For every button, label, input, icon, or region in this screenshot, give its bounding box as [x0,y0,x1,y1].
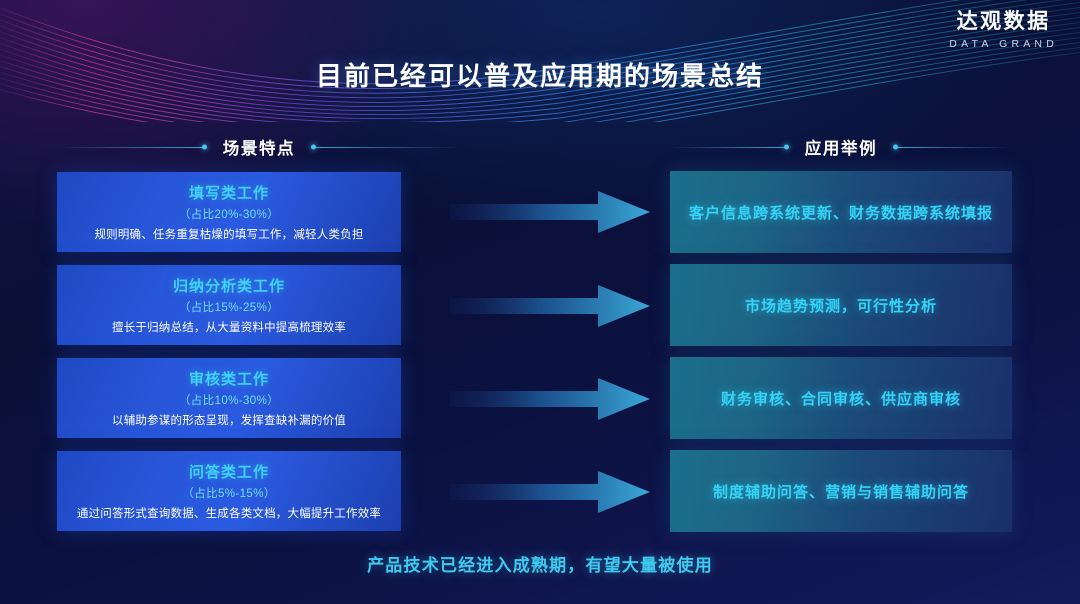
scenario-card-percent: （占比20%-30%） [179,206,279,222]
scenario-card[interactable]: 归纳分析类工作 （占比15%-25%） 擅长于归纳总结，从大量资料中提高梳理效率 [57,265,401,345]
column-header-right-label: 应用举例 [789,135,893,159]
header-line-left [670,147,789,148]
scenario-card-title: 问答类工作 [189,461,269,482]
arrow-row-4 [450,469,650,515]
header-dot-icon [202,145,207,150]
scenario-card-title: 归纳分析类工作 [173,275,285,296]
example-card-text: 财务审核、合同审核、供应商审核 [721,388,961,409]
example-card[interactable]: 市场趋势预测，可行性分析 [670,264,1012,346]
page-title: 目前已经可以普及应用期的场景总结 [0,56,1080,93]
scenario-card-description: 通过问答形式查询数据、生成各类文档，大幅提升工作效率 [77,505,381,521]
scenario-card[interactable]: 审核类工作 （占比10%-30%） 以辅助参谋的形态呈现，发挥查缺补漏的价值 [57,358,401,438]
column-header-left-label: 场景特点 [207,135,311,159]
scenario-card-percent: （占比10%-30%） [179,392,279,408]
scenario-card-title: 审核类工作 [189,368,269,389]
column-header-right: 应用举例 [670,135,1012,159]
logo-chinese-name: 达观数据 [949,10,1058,34]
scenario-card-description: 擅长于归纳总结，从大量资料中提高梳理效率 [112,319,346,335]
scenario-card-percent: （占比5%-15%） [182,485,275,501]
footer-caption: 产品技术已经进入成熟期，有望大量被使用 [0,551,1080,576]
arrow-row-3 [450,376,650,422]
arrow-row-1 [450,189,650,235]
brand-logo: 达观数据 DATA GRAND [949,10,1058,50]
header-dot-icon [784,145,789,150]
example-card[interactable]: 财务审核、合同审核、供应商审核 [670,357,1012,439]
header-line-right [893,147,1012,148]
header-dot-icon [311,145,316,150]
example-card[interactable]: 制度辅助问答、营销与销售辅助问答 [670,450,1012,532]
logo-english-name: DATA GRAND [949,38,1058,50]
scenario-card-description: 以辅助参谋的形态呈现，发挥查缺补漏的价值 [112,412,346,428]
arrow-row-2 [450,283,650,329]
column-header-left: 场景特点 [57,135,461,159]
scenario-card-percent: （占比15%-25%） [179,299,279,315]
header-dot-icon [893,145,898,150]
slide-root: 达观数据 DATA GRAND 目前已经可以普及应用期的场景总结 场景特点 应用… [0,0,1080,604]
scenario-card[interactable]: 填写类工作 （占比20%-30%） 规则明确、任务重复枯燥的填写工作，减轻人类负… [57,172,401,252]
example-card[interactable]: 客户信息跨系统更新、财务数据跨系统填报 [670,171,1012,253]
header-line-left [57,147,207,148]
example-card-text: 客户信息跨系统更新、财务数据跨系统填报 [689,202,993,223]
scenario-card-title: 填写类工作 [189,182,269,203]
example-card-text: 市场趋势预测，可行性分析 [745,295,937,316]
example-card-text: 制度辅助问答、营销与销售辅助问答 [713,481,969,502]
header-line-right [311,147,461,148]
scenario-card-description: 规则明确、任务重复枯燥的填写工作，减轻人类负担 [94,226,363,242]
scenario-card[interactable]: 问答类工作 （占比5%-15%） 通过问答形式查询数据、生成各类文档，大幅提升工… [57,451,401,531]
